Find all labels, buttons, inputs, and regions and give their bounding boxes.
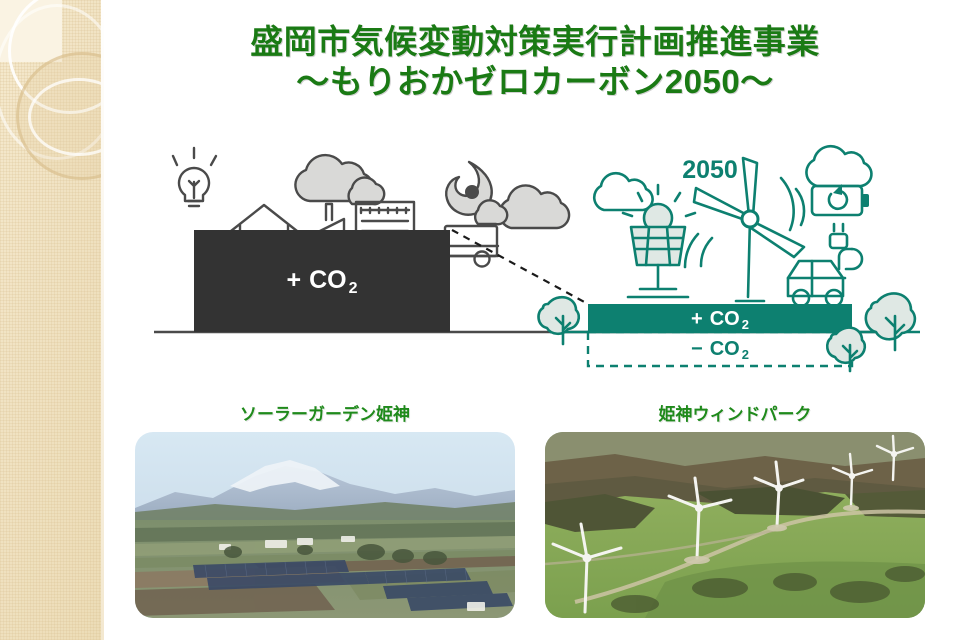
slide-title: 盛岡市気候変動対策実行計画推進事業 〜もりおかゼロカーボン2050〜 <box>120 22 950 103</box>
future-absorb-sub: 2 <box>742 347 749 362</box>
tree-icon-3 <box>827 328 865 371</box>
solar-panel-icon <box>623 185 695 297</box>
title-line-2: 〜もりおかゼロカーボン2050〜 <box>120 62 950 102</box>
future-emit-sign: + <box>691 308 703 330</box>
dashed-connector-line <box>452 230 588 304</box>
battery-recharge-icon <box>812 184 869 215</box>
future-emit-sub: 2 <box>742 317 749 332</box>
cloud-icon-left <box>295 155 384 204</box>
title-line-1: 盛岡市気候変動対策実行計画推進事業 <box>120 22 950 62</box>
lightbulb-icon <box>173 148 216 206</box>
caption-solar-garden: ソーラーガーデン姫神 <box>135 400 515 425</box>
cloud-icon-right-2 <box>806 146 871 186</box>
tree-icon-2 <box>866 293 915 350</box>
future-absorb-text: CO <box>710 338 740 360</box>
future-absorb-sign: − <box>691 338 703 360</box>
present-co2-sign: + <box>286 266 301 294</box>
band-right-edge <box>101 0 104 640</box>
cloud-icon-right-1 <box>594 173 652 210</box>
future-absorb-label: −CO2 <box>691 338 749 362</box>
caption-wind-park: 姫神ウィンドパーク <box>545 400 925 425</box>
himekami-wind-park-photo <box>545 432 925 618</box>
future-emit-text: CO <box>710 308 740 330</box>
tree-icon-1 <box>538 297 578 344</box>
year-2050-label: 2050 <box>682 156 738 184</box>
present-co2-text: CO <box>309 266 347 294</box>
present-co2-sub: 2 <box>349 280 358 297</box>
solar-garden-himekami-photo <box>135 432 515 618</box>
slide-root: 盛岡市気候変動対策実行計画推進事業 〜もりおかゼロカーボン2050〜 .gl{f… <box>0 0 960 640</box>
co2-diagram: .gl{fill:none;stroke:#4a4a4a;stroke-widt… <box>120 126 950 388</box>
electric-car-icon <box>788 224 862 306</box>
decorative-theme-band <box>0 0 104 640</box>
